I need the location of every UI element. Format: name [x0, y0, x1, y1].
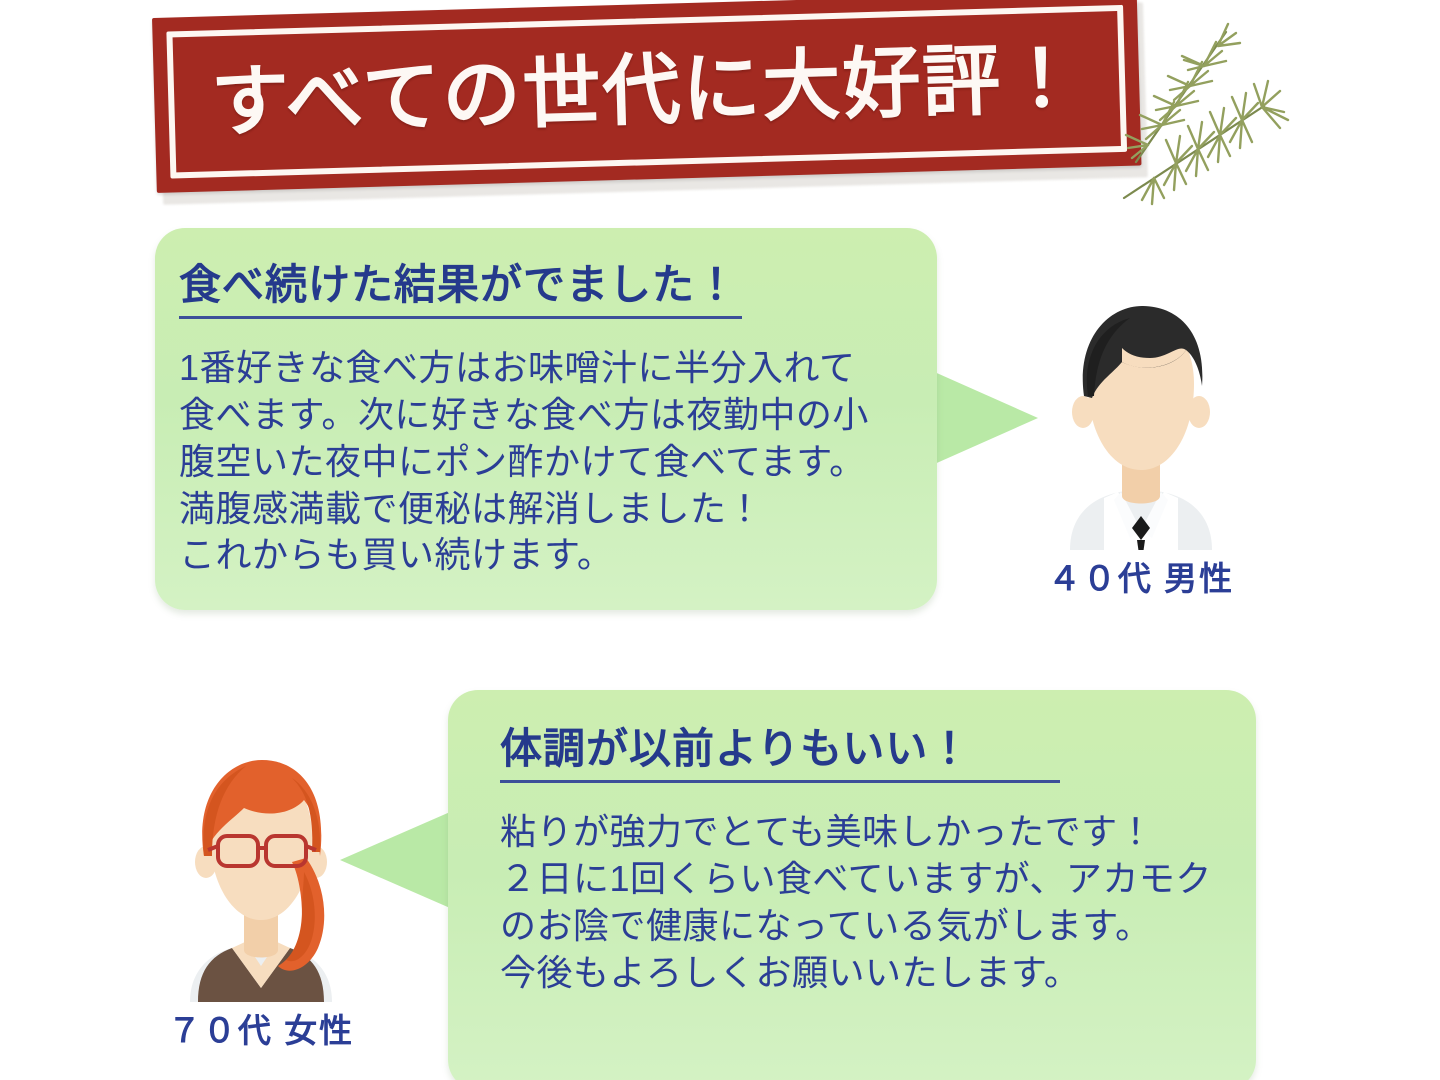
avatar-caption-male: ４０代 男性 [1026, 552, 1256, 600]
fern-sprig-icon [1118, 2, 1333, 217]
female-avatar-icon [146, 752, 376, 1002]
male-avatar-icon [1026, 300, 1256, 550]
promo-testimonial-page: すべての世代に大好評！ [0, 0, 1440, 1080]
heading-underline-2 [500, 780, 1060, 783]
testimonial-body-1: 1番好きな食べ方はお味噌汁に半分入れて 食べます。次に好きな食べ方は夜勤中の小 … [179, 345, 897, 579]
heading-underline-1 [179, 316, 742, 319]
testimonial-heading-1: 食べ続けた結果がでました！ [179, 262, 897, 308]
avatar-caption-female: ７０代 女性 [146, 1004, 376, 1052]
header-banner: すべての世代に大好評！ [152, 0, 1142, 193]
speech-bubble-tail-right [930, 370, 1038, 466]
avatar-block-female: ７０代 女性 [146, 752, 376, 1052]
testimonial-bubble-1: 食べ続けた結果がでました！ 1番好きな食べ方はお味噌汁に半分入れて 食べます。次… [155, 228, 937, 610]
testimonial-bubble-2: 体調が以前よりもいい！ 粘りが強力でとても美味しかったです！ ２日に1回くらい食… [448, 690, 1256, 1080]
banner-title: すべての世代に大好評！ [152, 0, 1142, 193]
testimonial-body-2: 粘りが強力でとても美味しかったです！ ２日に1回くらい食べていますが、アカモク … [500, 809, 1216, 996]
banner-plate: すべての世代に大好評！ [152, 0, 1142, 193]
avatar-block-male: ４０代 男性 [1026, 300, 1256, 600]
testimonial-heading-2: 体調が以前よりもいい！ [500, 726, 1216, 772]
